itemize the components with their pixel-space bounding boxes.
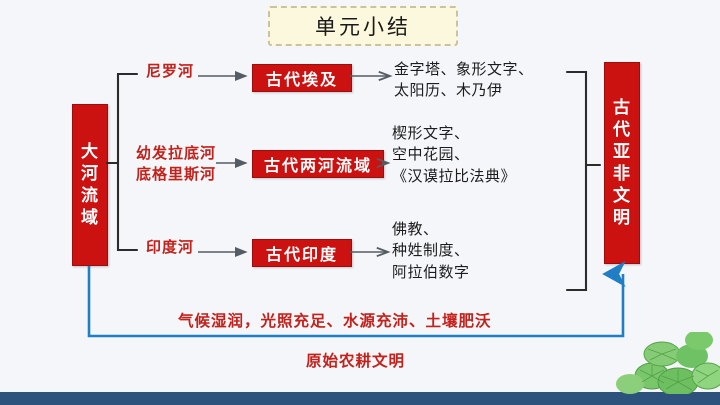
node-ancient-mesopotamia[interactable]: 古代两河流域 xyxy=(252,150,384,178)
node-civ-char-0: 古 xyxy=(613,97,631,119)
river-label-nile: 尼罗河 xyxy=(146,62,194,83)
achievements-mesopotamia-line-2: 《汉谟拉比法典》 xyxy=(392,167,516,188)
achievements-mesopotamia: 楔形文字、 空中花园、 《汉谟拉比法典》 xyxy=(392,124,516,188)
achievements-egypt-line-1: 太阳历、木乃伊 xyxy=(394,81,534,102)
node-ancient-egypt[interactable]: 古代埃及 xyxy=(252,64,352,92)
river-label-tigris-euphrates: 幼发拉底河 底格里斯河 xyxy=(136,144,216,186)
node-civ-char-5: 明 xyxy=(613,207,631,229)
achievements-egypt: 金字塔、象形文字、 太阳历、木乃伊 xyxy=(394,60,534,103)
achievements-india-line-1: 种姓制度、 xyxy=(392,241,470,262)
node-river-valleys[interactable]: 大 河 流 域 xyxy=(72,104,108,266)
primitive-farming-text: 原始农耕文明 xyxy=(306,349,405,371)
bracket-right xyxy=(567,72,600,290)
achievements-mesopotamia-line-0: 楔形文字、 xyxy=(392,124,516,145)
node-civ-char-4: 文 xyxy=(613,185,631,207)
leaf-decoration-icon xyxy=(600,332,720,394)
node-ancient-egypt-label: 古代埃及 xyxy=(266,66,338,90)
river-two-line-0: 幼发拉底河 xyxy=(136,144,216,165)
node-civ-char-1: 代 xyxy=(613,119,631,141)
achievements-india-line-0: 佛教、 xyxy=(392,220,470,241)
node-civ-char-2: 亚 xyxy=(613,141,631,163)
achievements-mesopotamia-line-1: 空中花园、 xyxy=(392,145,516,166)
achievements-india-line-2: 阿拉伯数字 xyxy=(392,263,470,284)
node-ancient-india[interactable]: 古代印度 xyxy=(252,239,352,267)
node-ancient-asia-africa-civilization[interactable]: 古 代 亚 非 文 明 xyxy=(604,62,640,264)
river-nile-line-0: 尼罗河 xyxy=(146,62,194,83)
achievements-egypt-line-0: 金字塔、象形文字、 xyxy=(394,60,534,81)
slide-title-box: 单元小结 xyxy=(268,6,458,46)
slide-title-text: 单元小结 xyxy=(315,11,411,41)
node-ancient-india-label: 古代印度 xyxy=(266,241,338,265)
bracket-left xyxy=(107,74,137,250)
achievements-india: 佛教、 种姓制度、 阿拉伯数字 xyxy=(392,220,470,284)
node-ancient-mesopotamia-label: 古代两河流域 xyxy=(264,152,372,176)
node-river-valleys-char-1: 河 xyxy=(81,163,99,185)
river-two-line-1: 底格里斯河 xyxy=(136,165,216,186)
node-river-valleys-char-0: 大 xyxy=(81,141,99,163)
node-river-valleys-char-2: 流 xyxy=(81,185,99,207)
node-civ-char-3: 非 xyxy=(613,163,631,185)
node-river-valleys-char-3: 域 xyxy=(81,207,99,229)
river-label-indus: 印度河 xyxy=(146,238,194,259)
slide-canvas: 单元小结 大 河 流 域 古 代 亚 非 文 明 尼罗河 幼发拉底河 底格里斯河… xyxy=(0,0,720,405)
natural-conditions-text: 气候湿润，光照充足、水源充沛、土壤肥沃 xyxy=(178,309,492,331)
river-indus-line-0: 印度河 xyxy=(146,238,194,259)
